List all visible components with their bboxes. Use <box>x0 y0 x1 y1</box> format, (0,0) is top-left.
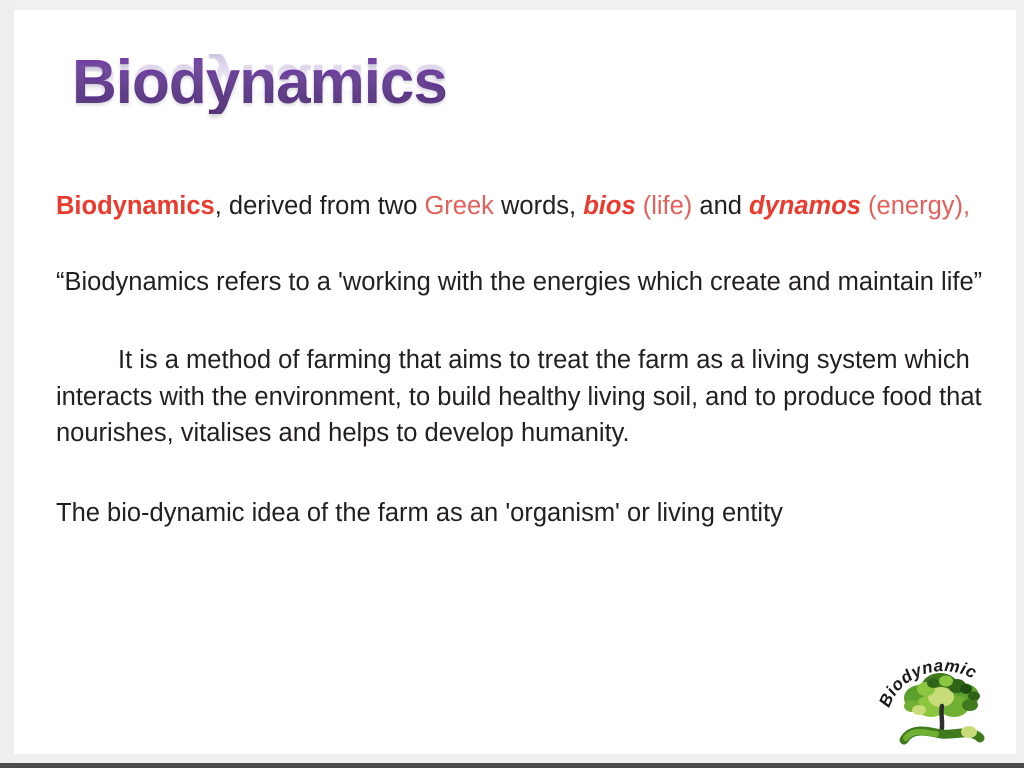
gloss-energy: (energy), <box>861 192 970 220</box>
paragraph-idea: The bio-dynamic idea of the farm as an '… <box>56 495 988 531</box>
biodynamic-logo: Biodynamic <box>874 648 1010 752</box>
slide-title-block: Biodynamics Biodynamics <box>72 52 592 162</box>
leaf-accent <box>961 726 977 738</box>
keyword-bios: bios <box>583 192 635 220</box>
paragraph-quote: “Biodynamics refers to a 'working with t… <box>56 264 988 300</box>
definition-text-2: words, <box>494 192 583 220</box>
paragraph-method: It is a method of farming that aims to t… <box>56 342 988 451</box>
tree-icon: Biodynamic <box>874 648 1010 752</box>
root-highlight <box>906 732 936 738</box>
keyword-biodynamics: Biodynamics <box>56 192 215 220</box>
keyword-dynamos: dynamos <box>749 192 861 220</box>
slide-canvas: Biodynamics Biodynamics Biodynamics, der… <box>14 10 1016 754</box>
definition-text-3: and <box>692 192 749 220</box>
slide-body: Biodynamics, derived from two Greek word… <box>56 188 988 531</box>
paragraph-definition: Biodynamics, derived from two Greek word… <box>56 188 988 224</box>
page-title-reflection: Biodynamics <box>72 54 592 116</box>
slide-frame: Biodynamics Biodynamics Biodynamics, der… <box>0 0 1024 768</box>
definition-text-1: , derived from two <box>215 192 425 220</box>
keyword-greek: Greek <box>424 192 493 220</box>
gloss-life: (life) <box>636 192 693 220</box>
